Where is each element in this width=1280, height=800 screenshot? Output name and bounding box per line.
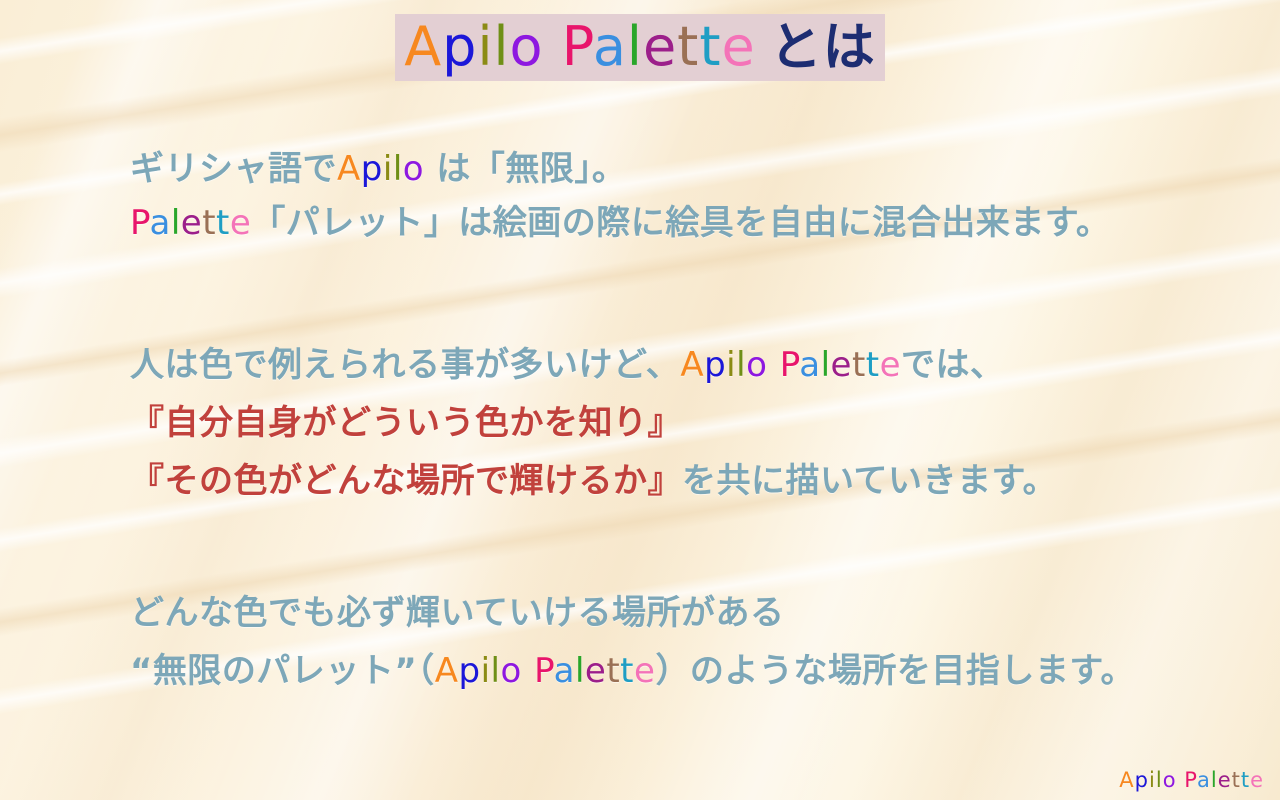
body-line: どんな色でも必ず輝いていける場所がある [130,596,1135,630]
brand-letter: e [230,203,251,243]
brand-letter: l [171,203,181,243]
brand-letter: e [1218,768,1232,792]
brand-letter: e [181,203,202,243]
brand-letter: o [746,345,767,385]
brand-letter: A [337,149,361,189]
brand-letter: p [458,651,480,691]
brand-letter: e [880,345,901,385]
brand-letter: a [799,345,820,385]
brand-letter: P [780,345,799,385]
brand-letter: t [1241,768,1250,792]
body-line-emphasis-partial: 『その色がどんな場所で輝けるか』を共に描いていきます。 [130,464,1057,498]
body-text [767,345,779,385]
inline-apilo-logo: Apilo [337,152,424,186]
brand-letter: a [1197,768,1211,792]
slide-canvas: Apilo Paletteとは ギリシャ語でApilo は「無限」。 Palet… [0,0,1280,800]
brand-letter: t [606,651,620,691]
inline-apilo-logo: Apilo [680,348,767,382]
inline-palette-logo: Palette [534,654,655,688]
brand-letter: l [393,149,403,189]
brand-letter: t [1232,768,1241,792]
body-text: ギリシャ語で [130,149,337,189]
brand-letter: l [491,651,501,691]
brand-letter: t [852,345,866,385]
brand-letter: t [866,345,880,385]
body-text [522,651,534,691]
inline-apilo-logo: Apilo [435,654,522,688]
body-text: 『自分自身がどういう色かを知り』 [130,403,682,443]
inline-palette-logo: Palette [130,206,251,240]
body-line: ギリシャ語でApilo は「無限」。 [130,152,1110,186]
brand-letter: o [403,149,424,189]
brand-letter: l [821,345,831,385]
body-text: どんな色でも必ず輝いていける場所がある [130,593,784,633]
paragraph-1: ギリシャ語でApilo は「無限」。 Palette「パレット」は絵画の際に絵具… [130,152,1110,240]
brand-letter: p [361,149,383,189]
paragraph-3: どんな色でも必ず輝いていける場所がある “無限のパレット”（Apilo Pale… [130,596,1135,688]
brand-letter: t [216,203,230,243]
slide-body: ギリシャ語でApilo は「無限」。 Palette「パレット」は絵画の際に絵具… [0,0,1280,800]
body-line: 人は色で例えられる事が多いけど、Apilo Paletteでは、 [130,348,1057,382]
brand-letter: t [620,651,634,691]
brand-letter: i [726,345,736,385]
brand-letter: p [704,345,726,385]
brand-letter: l [736,345,746,385]
footer-brand-logo: Apilo Palette [1119,768,1264,792]
brand-letter: i [383,149,393,189]
brand-letter: a [554,651,575,691]
body-text: 「パレット」は絵画の際に絵具を自由に混合出来ます。 [251,203,1110,243]
brand-letter: e [634,651,655,691]
body-text: は「無限」。 [424,149,626,189]
brand-letter: e [1250,768,1264,792]
brand-letter: a [149,203,170,243]
brand-letter: P [534,651,553,691]
brand-letter: i [481,651,491,691]
body-line: “無限のパレット”（Apilo Palette）のような場所を目指します。 [130,654,1135,688]
brand-letter: e [585,651,606,691]
body-text: “無限のパレット”（ [130,651,435,691]
brand-letter: l [575,651,585,691]
paragraph-2: 人は色で例えられる事が多いけど、Apilo Paletteでは、 『自分自身がど… [130,348,1057,498]
emphasis-text: 『その色がどんな場所で輝けるか』 [130,461,682,501]
brand-letter: P [130,203,149,243]
body-text: を共に描いていきます。 [682,461,1057,501]
inline-palette-logo: Palette [780,348,901,382]
body-line-emphasis: 『自分自身がどういう色かを知り』 [130,406,1057,440]
brand-letter: i [1149,768,1156,792]
brand-letter: t [202,203,216,243]
brand-letter: e [831,345,852,385]
brand-letter: A [680,345,704,385]
body-text: ）のような場所を目指します。 [655,651,1135,691]
brand-letter: o [1163,768,1177,792]
body-text: では、 [901,345,1005,385]
brand-letter: p [1135,768,1149,792]
body-line: Palette「パレット」は絵画の際に絵具を自由に混合出来ます。 [130,206,1110,240]
footer-watermark: Apilo Palette [1119,768,1264,792]
brand-letter: l [1211,768,1218,792]
brand-letter: l [1156,768,1163,792]
brand-letter: o [500,651,521,691]
brand-letter: A [1119,768,1134,792]
brand-letter: A [435,651,459,691]
body-text: 人は色で例えられる事が多いけど、 [130,345,680,385]
brand-letter: P [1184,768,1197,792]
